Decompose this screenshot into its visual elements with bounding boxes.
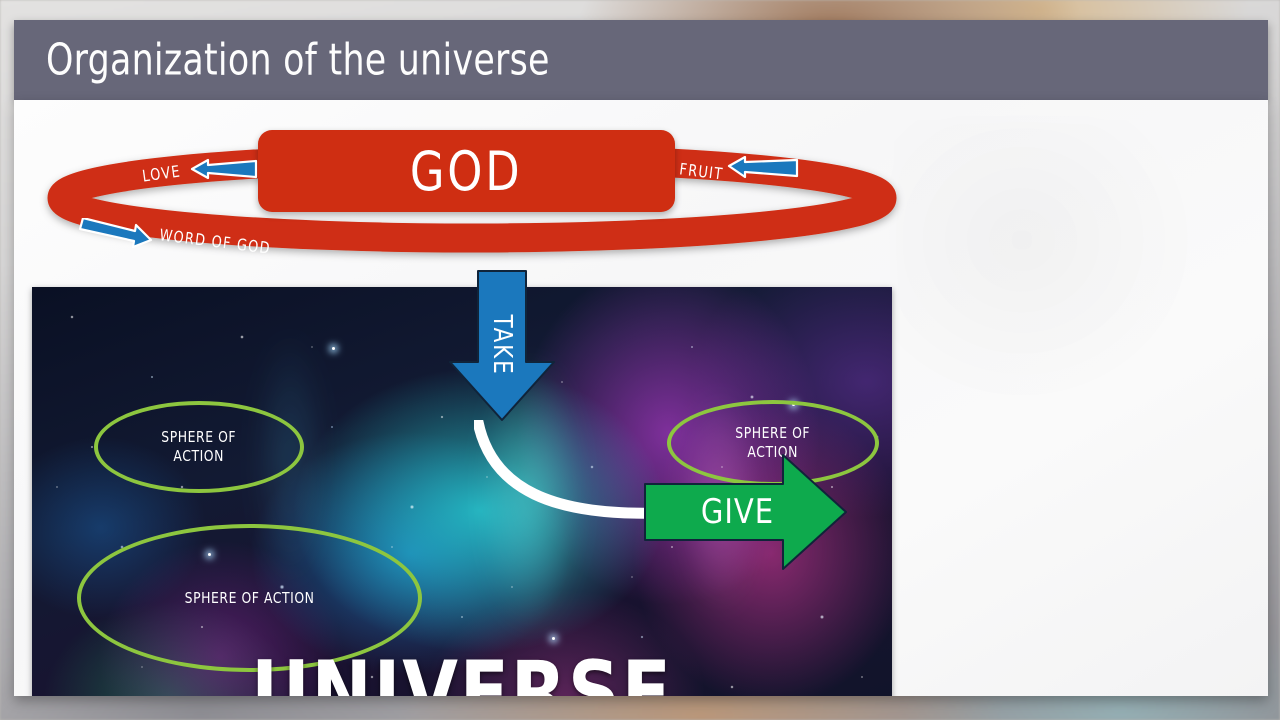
bright-star [552,637,555,640]
slide-canvas: GOD LOVE FRUIT WORD OF GOD SPHERE O [14,100,1268,696]
universe-caption: UNIVERSE [62,643,862,696]
take-arrow-down-icon[interactable] [447,270,557,422]
bright-star [332,347,335,350]
slide: Organization of the universe GOD [14,20,1268,696]
give-arrow-right-icon[interactable] [643,452,848,572]
god-label: GOD [410,140,523,203]
god-box[interactable]: GOD [258,130,675,212]
slide-title-bar: Organization of the universe [14,20,1268,100]
sphere-of-action-top-left[interactable]: SPHERE OFACTION [94,401,304,493]
arrow-right-icon-word-of-god [77,218,153,248]
arrow-left-icon-fruit [727,156,799,180]
sphere-label: SPHERE OFACTION [162,428,237,466]
sphere-label: SPHERE OF ACTION [185,589,315,608]
arrow-left-icon-love [190,157,258,181]
page-title: Organization of the universe [46,35,550,86]
